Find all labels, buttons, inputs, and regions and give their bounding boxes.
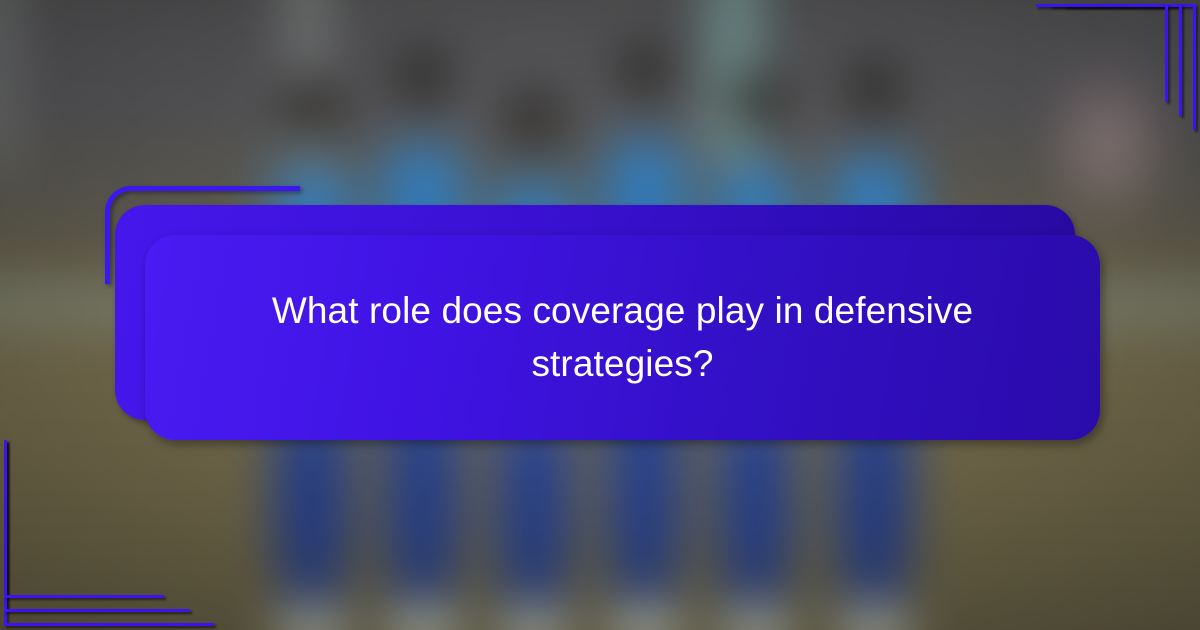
corner-bracket-top-right-inner [1036,4,1168,102]
headline-text: What role does coverage play in defensiv… [145,285,1100,390]
quote-card-graphic: What role does coverage play in defensiv… [0,0,1200,630]
headline-card: What role does coverage play in defensiv… [145,235,1100,440]
corner-bracket-bottom-left-inner [4,442,164,598]
